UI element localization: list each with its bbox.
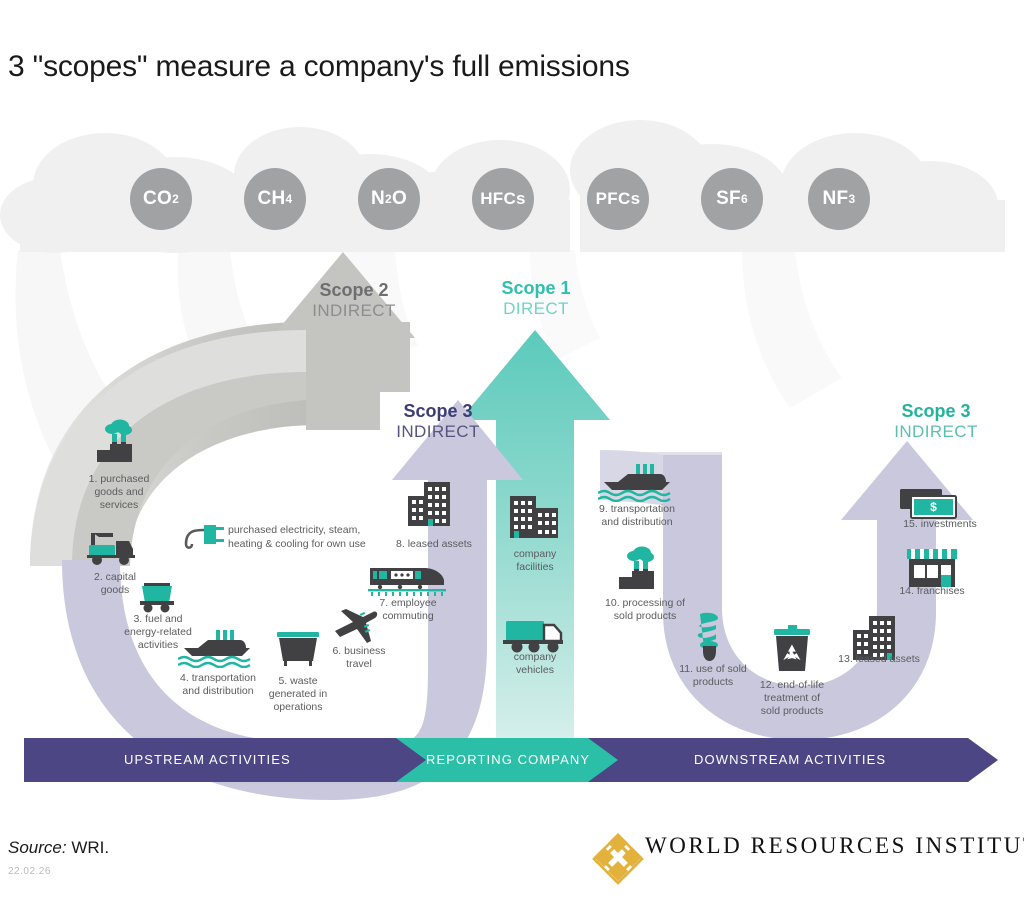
gas-chip-co2: CO2 [130,168,192,230]
greenhouse-gas-row: CO2 CH4 N2O HFCs PFCs SF6 NF3 [0,0,1024,300]
fuel-wagon-icon [134,575,182,615]
date-stamp: 22.02.26 [8,866,51,877]
train-icon [368,562,446,598]
gas-chip-ch4: CH4 [244,168,306,230]
source-line: Source: WRI. [8,838,109,858]
gas-chip-nf3: NF3 [808,168,870,230]
reporting-company-label-vehicles: company vehicles [494,651,576,677]
delivery-truck-icon [503,615,567,655]
infographic-stage: 3 "scopes" measure a company's full emis… [0,0,1024,905]
gas-chip-sf6: SF6 [701,168,763,230]
scope3-downstream-heading: Scope 3 INDIRECT [876,401,996,441]
lightbulb-icon [690,610,732,662]
downstream-label-12: 12. end-of-life treatment of sold produc… [747,679,837,717]
waste-bin-icon [273,628,323,670]
scope2-subtitle: INDIRECT [294,301,414,321]
cargo-ship-icon [178,626,256,668]
banner-reporting-label: REPORTING COMPANY [426,752,590,767]
downstream-label-9: 9. transportation and distribution [583,503,691,529]
cargo-ship-icon [598,460,676,502]
downstream-label-10: 10. processing of sold products [592,597,698,623]
gas-chip-n2o: N2O [358,168,420,230]
scope3-upstream-subtitle: INDIRECT [378,422,498,442]
gas-chip-hfcs: HFCs [472,168,534,230]
factory-icon [92,418,144,466]
source-value: WRI. [71,838,109,857]
scope2-heading: Scope 2 INDIRECT [294,280,414,320]
office-buildings-icon [402,478,462,528]
recycle-bin-icon [770,625,814,675]
wri-wordmark: WORLD RESOURCES INSTITUTE [645,833,1024,859]
scope1-subtitle: DIRECT [476,299,596,319]
downstream-label-15: 15. investments [893,518,987,531]
scope3-downstream-subtitle: INDIRECT [876,422,996,442]
scope2-item-label: purchased electricity, steam, heating & … [228,524,378,551]
scope3-downstream-title: Scope 3 [876,401,996,422]
upstream-label-8: 8. leased assets [382,538,486,551]
crane-truck-icon [83,525,143,569]
upstream-label-6: 6. business travel [322,645,396,671]
upstream-label-7: 7. employee commuting [370,597,446,623]
downstream-label-11: 11. use of sold products [668,663,758,689]
plug-icon [182,522,230,552]
scope1-title: Scope 1 [476,278,596,299]
source-label: Source: [8,838,67,857]
upstream-label-5: 5. waste generated in operations [257,675,339,713]
downstream-label-13: 13. leased assets [827,653,931,666]
banner-downstream-label: DOWNSTREAM ACTIVITIES [694,752,886,767]
reporting-company-label-facilities: company facilities [494,548,576,574]
banner-upstream-label: UPSTREAM ACTIVITIES [124,752,291,767]
factory-icon [614,545,666,593]
scope3-upstream-title: Scope 3 [378,401,498,422]
downstream-label-14: 14. franchises [890,585,974,598]
svg-text:$: $ [930,500,937,514]
company-buildings-icon [504,490,566,540]
gas-chip-pfcs: PFCs [587,168,649,230]
wri-logo-mark [594,833,642,883]
upstream-label-1: 1. purchased goods and services [78,473,160,511]
upstream-label-4: 4. transportation and distribution [164,672,272,698]
scope1-heading: Scope 1 DIRECT [476,278,596,318]
scope3-upstream-heading: Scope 3 INDIRECT [378,401,498,441]
scope2-title: Scope 2 [294,280,414,301]
